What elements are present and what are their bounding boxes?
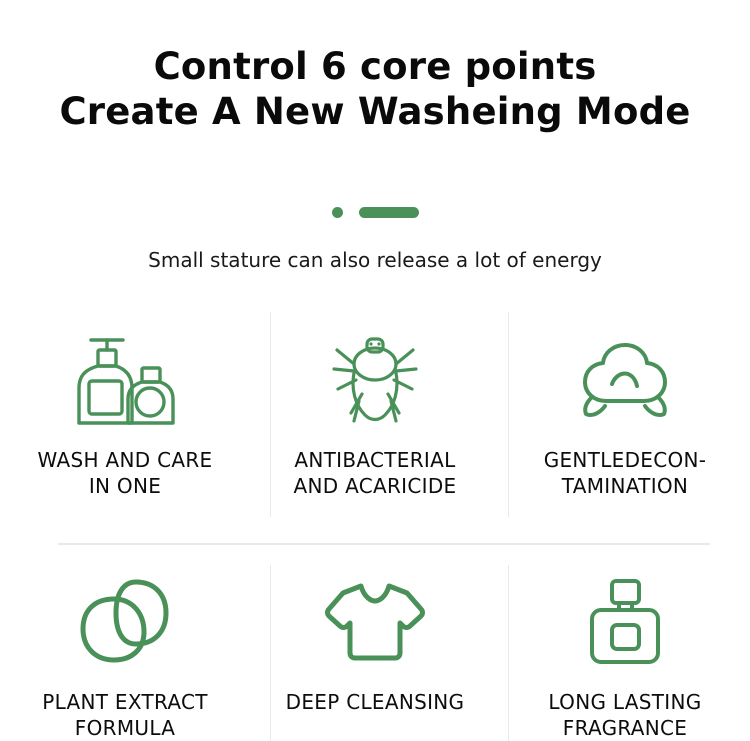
feature-cell-wash-and-care[interactable]: WASH AND CARE IN ONE	[0, 310, 250, 543]
perfume-bottle-icon	[578, 569, 672, 673]
feature-row-top: WASH AND CARE IN ONE	[0, 310, 750, 543]
mite-icon	[325, 328, 425, 433]
feature-label: WASH AND CARE IN ONE	[30, 447, 221, 499]
tshirt-icon	[323, 569, 427, 673]
page-title: Control 6 core points Create A New Washe…	[0, 44, 750, 134]
feature-label: ANTIBACTERIAL AND ACARICIDE	[286, 447, 465, 499]
feature-row-bottom: PLANT EXTRACT FORMULA DEEP CLEANSING	[0, 555, 750, 741]
feature-label: GENTLEDECON- TAMINATION	[536, 447, 715, 499]
page-subtitle: Small stature can also release a lot of …	[0, 246, 750, 274]
feature-label: DEEP CLEANSING	[278, 689, 473, 715]
ornament-dot-icon	[332, 207, 343, 218]
feature-cell-antibacterial[interactable]: ANTIBACTERIAL AND ACARICIDE	[250, 310, 500, 543]
soap-bottles-icon	[69, 328, 181, 433]
feature-label: LONG LASTING FRAGRANCE	[540, 689, 709, 741]
promo-page: Control 6 core points Create A New Washe…	[0, 0, 750, 741]
ornament-divider	[0, 205, 750, 219]
ornament-bar-icon	[359, 207, 419, 218]
feature-cell-gentle-decontamination[interactable]: GENTLEDECON- TAMINATION	[500, 310, 750, 543]
page-title-line-1: Control 6 core points	[154, 45, 597, 88]
feature-cell-plant-extract[interactable]: PLANT EXTRACT FORMULA	[0, 555, 250, 741]
feature-cell-long-lasting-fragrance[interactable]: LONG LASTING FRAGRANCE	[500, 555, 750, 741]
leaves-icon	[74, 569, 176, 673]
page-title-line-2: Create A New Washeing Mode	[0, 89, 750, 134]
feature-grid: WASH AND CARE IN ONE	[0, 310, 750, 741]
cloud-bubble-icon	[572, 328, 678, 433]
feature-label: PLANT EXTRACT FORMULA	[34, 689, 216, 741]
feature-cell-deep-cleansing[interactable]: DEEP CLEANSING	[250, 555, 500, 741]
